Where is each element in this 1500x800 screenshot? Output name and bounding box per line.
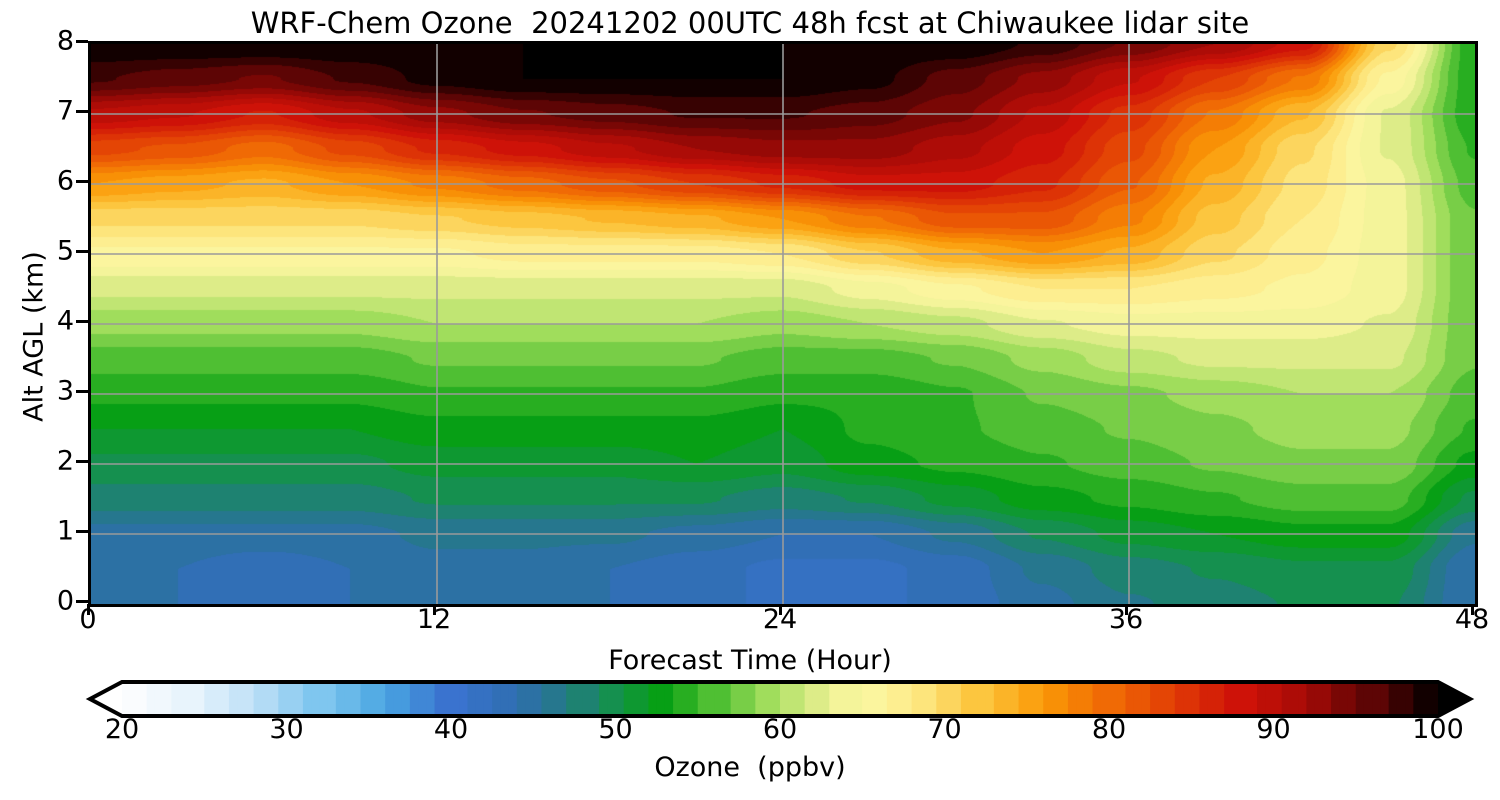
y-tick-mark [76, 390, 88, 393]
colorbar-tick-label: 80 [1049, 716, 1169, 743]
y-tick-label: 4 [14, 321, 74, 348]
colorbar-tick-label: 30 [227, 716, 347, 743]
colorbar-tick-label: 40 [391, 716, 511, 743]
y-tick-mark [76, 110, 88, 113]
y-tick-label: 2 [14, 461, 74, 488]
page-title: WRF-Chem Ozone 20241202 00UTC 48h fcst a… [0, 6, 1500, 40]
y-tick-mark [76, 320, 88, 323]
y-tick-mark [76, 40, 88, 43]
y-tick-label: 1 [14, 531, 74, 558]
y-tick-mark [76, 530, 88, 533]
y-tick-label: 6 [14, 181, 74, 208]
x-tick-mark [87, 604, 90, 615]
x-tick-mark [779, 604, 782, 615]
y-tick-label: 3 [14, 391, 74, 418]
y-tick-mark [76, 600, 88, 603]
colorbar-tick-label: 90 [1214, 716, 1334, 743]
x-tick-mark [1125, 604, 1128, 615]
y-tick-mark [76, 250, 88, 253]
y-tick-label: 5 [14, 251, 74, 278]
contour-plot [88, 41, 1478, 607]
colorbar-tick-label: 70 [885, 716, 1005, 743]
x-axis-label: Forecast Time (Hour) [0, 645, 1500, 676]
colorbar-label: Ozone (ppbv) [0, 752, 1500, 783]
colorbar-tick-label: 100 [1378, 716, 1498, 743]
y-tick-mark [76, 180, 88, 183]
colorbar-tick-label: 60 [720, 716, 840, 743]
y-tick-mark [76, 460, 88, 463]
x-tick-label: 48 [1412, 606, 1500, 633]
colorbar-tick-label: 20 [62, 716, 182, 743]
figure-root: WRF-Chem Ozone 20241202 00UTC 48h fcst a… [0, 0, 1500, 800]
colorbar-tick-label: 50 [556, 716, 676, 743]
y-tick-label: 7 [14, 111, 74, 138]
plot-gridlines [91, 44, 1475, 604]
x-tick-mark [433, 604, 436, 615]
x-tick-mark [1471, 604, 1474, 615]
y-tick-label: 8 [14, 41, 74, 68]
